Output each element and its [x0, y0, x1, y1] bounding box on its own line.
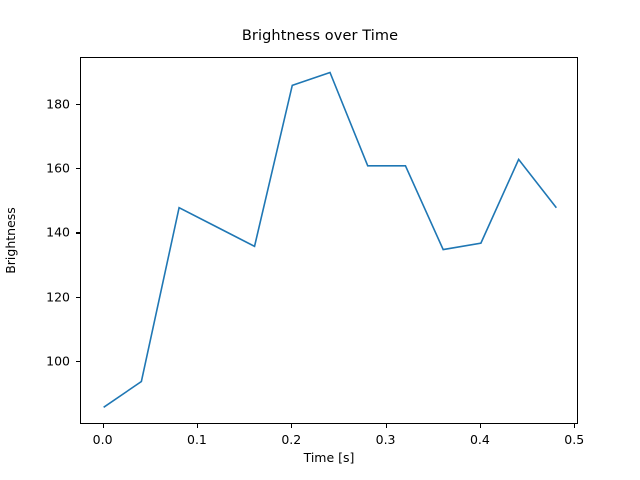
x-tick-label: 0.2: [281, 432, 301, 447]
y-tick-mark: [76, 168, 80, 169]
line-series-svg: [81, 58, 579, 425]
y-tick-label: 140: [10, 225, 70, 240]
x-tick-mark: [197, 424, 198, 428]
x-tick-label: 0.4: [470, 432, 490, 447]
y-tick-mark: [76, 232, 80, 233]
y-tick-mark: [76, 104, 80, 105]
chart-figure: Brightness over Time Brightness 10012014…: [0, 0, 640, 480]
y-tick-label: 180: [10, 96, 70, 111]
brightness-line-series: [104, 72, 557, 407]
x-tick-label: 0.0: [93, 432, 113, 447]
y-tick-label: 120: [10, 289, 70, 304]
x-tick-label: 0.3: [376, 432, 396, 447]
y-axis-label: Brightness: [0, 57, 22, 424]
y-tick-label: 160: [10, 161, 70, 176]
plot-axes: [80, 57, 578, 424]
x-tick-mark: [386, 424, 387, 428]
x-tick-label: 0.1: [187, 432, 207, 447]
y-tick-label: 100: [10, 354, 70, 369]
chart-title: Brightness over Time: [0, 28, 640, 44]
x-tick-mark: [574, 424, 575, 428]
x-tick-mark: [291, 424, 292, 428]
x-tick-label: 0.5: [564, 432, 584, 447]
y-tick-mark: [76, 361, 80, 362]
x-tick-mark: [480, 424, 481, 428]
y-tick-mark: [76, 297, 80, 298]
x-tick-mark: [103, 424, 104, 428]
x-axis-label: Time [s]: [80, 450, 578, 465]
